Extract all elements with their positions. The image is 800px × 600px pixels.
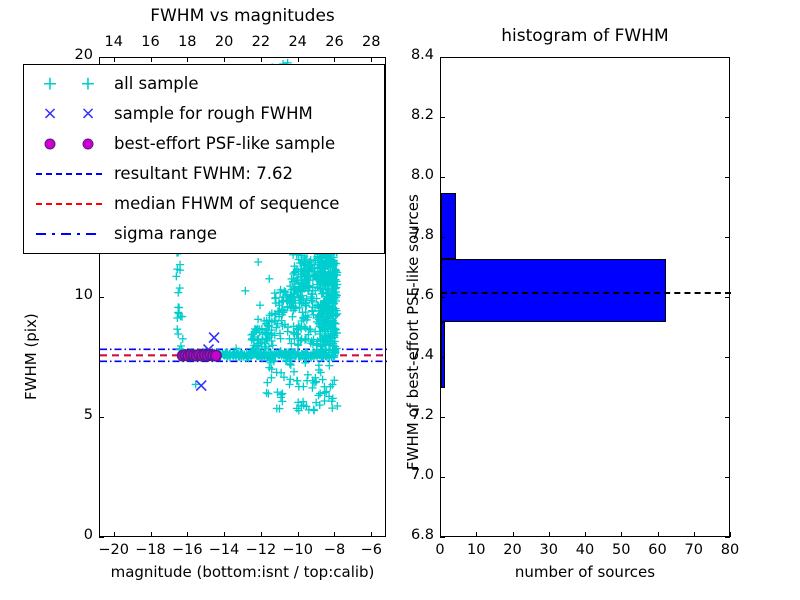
histogram-ytick-mark-right — [725, 297, 730, 298]
histogram-bar — [441, 322, 445, 388]
histogram-ytick-label: 7.2 — [388, 407, 434, 423]
scatter-ytick-label: 0 — [37, 527, 93, 543]
legend-item-label: best-effort PSF-like sample — [114, 136, 335, 153]
scatter-xtick-mark — [224, 532, 225, 537]
scatter-top-xtick-mark — [371, 57, 372, 62]
histogram-ytick-label: 7.4 — [388, 347, 434, 363]
legend: ++all sample××sample for rough FWHMbest-… — [23, 64, 385, 254]
scatter-ylabel: FWHM (pix) — [22, 313, 40, 400]
dashed-line-icon — [36, 173, 102, 175]
legend-item-label: all sample — [114, 76, 199, 93]
scatter-ytick-mark — [99, 537, 104, 538]
histogram-xtick-mark — [585, 532, 586, 537]
histogram-xtick-mark — [549, 532, 550, 537]
histogram-xtick-label: 80 — [705, 542, 755, 558]
histogram-ytick-mark-right — [725, 417, 730, 418]
scatter-xtick-mark — [334, 532, 335, 537]
scatter-top-xtick-mark — [334, 57, 335, 62]
histogram-ytick-mark-right — [725, 537, 730, 538]
histogram-xtick-mark — [476, 532, 477, 537]
histogram-ytick-mark-right — [725, 57, 730, 58]
legend-item-label: sample for rough FWHM — [114, 106, 313, 123]
histogram-xtick-mark — [730, 532, 731, 537]
histogram-ytick-label: 8.4 — [388, 47, 434, 63]
histogram-ytick-mark-right — [725, 477, 730, 478]
histogram-xtick-mark — [513, 532, 514, 537]
histogram-ytick-mark — [440, 477, 445, 478]
histogram-title: histogram of FWHM — [440, 26, 730, 46]
histogram-xtick-mark — [658, 532, 659, 537]
dash-dot-line-icon — [36, 233, 102, 235]
scatter-xlabel: magnitude (bottom:isnt / top:calib) — [99, 563, 386, 581]
histogram-ytick-label: 8.0 — [388, 167, 434, 183]
scatter-ytick-label: 10 — [37, 287, 93, 303]
legend-marker-dashed-line-icon — [30, 189, 114, 219]
legend-item: resultant FWHM: 7.62 — [30, 159, 378, 189]
histogram-ytick-mark-right — [725, 117, 730, 118]
legend-item: best-effort PSF-like sample — [30, 129, 378, 159]
histogram-ytick-mark-right — [725, 237, 730, 238]
histogram-xlabel: number of sources — [440, 563, 730, 581]
legend-item: sigma range — [30, 219, 378, 249]
legend-item-label: median FHWM of sequence — [114, 196, 339, 213]
legend-marker-filled-circle-icon — [30, 129, 114, 159]
scatter-top-xtick-mark — [261, 57, 262, 62]
histogram-axes — [440, 57, 730, 537]
histogram-ytick-label: 7.8 — [388, 227, 434, 243]
scatter-xtick-label: −6 — [346, 542, 396, 558]
histogram-ytick-mark — [440, 417, 445, 418]
legend-item-label: sigma range — [114, 226, 217, 243]
legend-items: ++all sample××sample for rough FWHMbest-… — [30, 69, 378, 249]
scatter-ytick-label: 20 — [37, 47, 93, 63]
legend-marker-dash-dot-line-icon — [30, 219, 114, 249]
cross-icon: × — [80, 105, 95, 123]
legend-item: ++all sample — [30, 69, 378, 99]
scatter-xtick-mark — [298, 532, 299, 537]
histogram-ytick-mark — [440, 237, 445, 238]
scatter-ytick-mark — [99, 417, 104, 418]
histogram-ytick-mark — [440, 57, 445, 58]
histogram-xtick-mark — [694, 532, 695, 537]
histogram-ytick-label: 8.2 — [388, 107, 434, 123]
plus-icon: + — [80, 75, 96, 94]
scatter-top-xtick-mark — [187, 57, 188, 62]
figure-canvas: FWHM vs magnitudes magnitude (bottom:isn… — [0, 0, 800, 600]
scatter-xtick-mark — [261, 532, 262, 537]
scatter-xtick-mark — [151, 532, 152, 537]
histogram-ytick-mark — [440, 537, 445, 538]
histogram-bar — [441, 259, 666, 322]
legend-item-label: resultant FWHM: 7.62 — [114, 166, 293, 183]
series-best-effort-psf-like-sample — [178, 349, 222, 360]
scatter-xtick-mark — [187, 532, 188, 537]
histogram-bar — [441, 193, 456, 259]
legend-marker-cross-icon: ×× — [30, 99, 114, 129]
histogram-ytick-mark — [440, 357, 445, 358]
legend-marker-dashed-line-icon — [30, 159, 114, 189]
histogram-ytick-mark-right — [725, 177, 730, 178]
legend-marker-plus-icon: ++ — [30, 69, 114, 99]
cross-icon: × — [42, 105, 57, 123]
filled-circle-icon — [45, 139, 56, 150]
histogram-ytick-mark — [440, 177, 445, 178]
histogram-ytick-label: 7.0 — [388, 467, 434, 483]
scatter-top-xtick-mark — [298, 57, 299, 62]
scatter-top-xtick-mark — [114, 57, 115, 62]
scatter-ytick-mark — [99, 57, 104, 58]
scatter-top-xtick-mark — [151, 57, 152, 62]
histogram-ytick-label: 7.6 — [388, 287, 434, 303]
scatter-ytick-mark — [99, 297, 104, 298]
histogram-resultant-fwhm-line — [441, 292, 731, 294]
histogram-ytick-mark-right — [725, 357, 730, 358]
scatter-plot-title: FWHM vs magnitudes — [99, 6, 386, 26]
scatter-xtick-mark — [114, 532, 115, 537]
scatter-ytick-label: 5 — [37, 407, 93, 423]
histogram-xtick-mark — [621, 532, 622, 537]
histogram-ytick-mark — [440, 297, 445, 298]
histogram-ytick-label: 6.8 — [388, 527, 434, 543]
dashed-line-icon — [36, 203, 102, 205]
scatter-xtick-mark — [371, 532, 372, 537]
legend-item: median FHWM of sequence — [30, 189, 378, 219]
plus-icon: + — [42, 75, 58, 94]
histogram-ytick-mark — [440, 117, 445, 118]
filled-circle-icon — [83, 139, 94, 150]
scatter-top-xtick-mark — [224, 57, 225, 62]
legend-item: ××sample for rough FWHM — [30, 99, 378, 129]
